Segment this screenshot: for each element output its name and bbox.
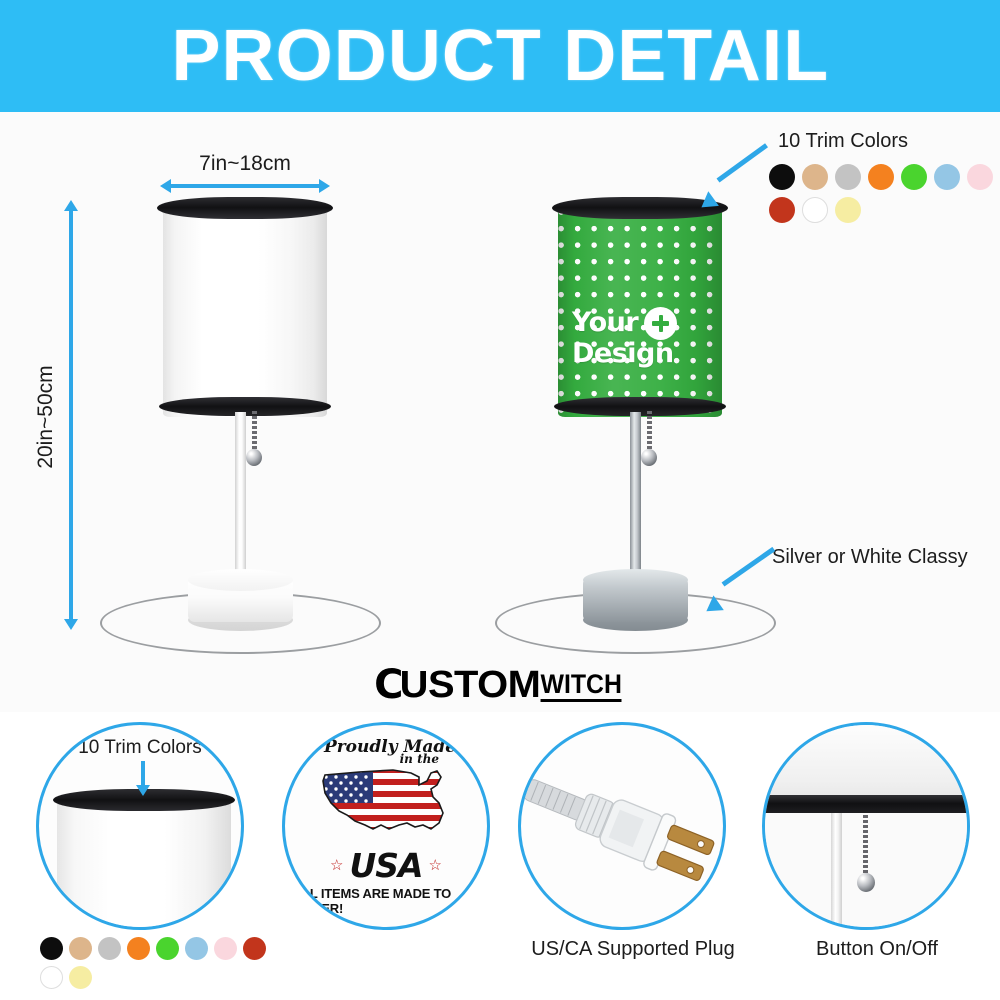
feature-plug-caption: US/CA Supported Plug	[518, 938, 748, 961]
feature-made-in-usa: Proudly Made in the	[282, 722, 512, 930]
base-finish-label: Silver or White Classy	[772, 546, 968, 569]
pull-chain-ball-icon	[641, 449, 657, 466]
logo-witch-text: WITCH	[541, 671, 622, 702]
pull-chain-ball-icon	[246, 449, 262, 466]
lampshade-white	[95, 197, 395, 427]
usa-badge: Proudly Made in the	[293, 733, 479, 919]
design-line-2: Design	[572, 340, 722, 368]
lamp-base-top	[188, 569, 293, 591]
lamp-pole-closeup	[831, 813, 842, 930]
height-dimension-label: 20in~50cm	[34, 202, 58, 632]
vertical-double-arrow-icon	[64, 200, 78, 630]
trim-swatch-orange[interactable]	[127, 937, 150, 960]
lampshade-top-trim	[157, 197, 333, 219]
star-icon: ☆	[429, 856, 442, 874]
logo-custom-text: USTOM	[400, 666, 541, 704]
usa-badge-bottom: ALL ITEMS ARE MADE TO ORDER!	[293, 886, 479, 916]
trim-swatch-gray[interactable]	[98, 937, 121, 960]
pull-chain-icon	[252, 411, 257, 453]
trim-color-swatches-bottom	[40, 937, 280, 989]
trim-swatch-red[interactable]	[769, 197, 795, 223]
trim-swatch-tan[interactable]	[69, 937, 92, 960]
lampshade-green: Your Design	[490, 197, 790, 427]
trim-swatch-gray[interactable]	[835, 164, 861, 190]
width-dimension-label: 7in~18cm	[160, 152, 330, 176]
feature-circle: 10 Trim Colors	[36, 722, 244, 930]
usa-badge-line1: Proudly Made	[324, 737, 456, 757]
trim-swatch-black[interactable]	[40, 937, 63, 960]
trim-colors-title: 10 Trim Colors	[778, 130, 908, 153]
your-design-placeholder: Your Design	[558, 209, 722, 417]
trim-swatch-yellow[interactable]	[69, 966, 92, 989]
design-text-your: Your	[572, 309, 638, 337]
trim-swatch-black[interactable]	[769, 164, 795, 190]
trim-swatch-pink[interactable]	[214, 937, 237, 960]
trim-swatch-green[interactable]	[901, 164, 927, 190]
lamp-pole	[630, 412, 641, 587]
lamp-base-top	[583, 569, 688, 591]
pull-chain-ball-icon	[857, 873, 875, 892]
trim-swatch-white[interactable]	[40, 966, 63, 989]
feature-button-caption: Button On/Off	[762, 938, 992, 961]
lamp-white	[95, 197, 395, 427]
power-plug-icon	[521, 725, 723, 927]
design-text-design: Design	[572, 340, 674, 368]
feature-plug: US/CA Supported Plug	[518, 722, 748, 961]
trim-swatch-light-blue[interactable]	[185, 937, 208, 960]
trim-swatch-green[interactable]	[156, 937, 179, 960]
feature-circle: Proudly Made in the	[282, 722, 490, 930]
feature-trim-label: 10 Trim Colors	[39, 737, 241, 759]
pull-chain-icon	[863, 815, 868, 877]
plus-icon	[644, 307, 677, 340]
lampshade-surface	[163, 209, 327, 417]
feature-strip: 10 Trim Colors Proudly Made in the	[0, 712, 1000, 1000]
trim-swatch-tan[interactable]	[802, 164, 828, 190]
trim-swatch-light-blue[interactable]	[934, 164, 960, 190]
lampshade-trim-closeup	[762, 795, 970, 813]
feature-circle	[762, 722, 970, 930]
lamp-green-custom: Your Design	[490, 197, 790, 427]
lampshade-closeup	[762, 725, 970, 799]
feature-button-onoff: Button On/Off	[762, 722, 992, 961]
design-line-1: Your	[572, 307, 722, 340]
header-banner: PRODUCT DETAIL	[0, 0, 1000, 112]
usa-map-flag-icon	[315, 767, 457, 848]
trim-pointer-arrow-icon	[700, 160, 770, 210]
horizontal-double-arrow-icon	[160, 179, 330, 193]
trim-swatch-yellow[interactable]	[835, 197, 861, 223]
product-showcase: 7in~18cm 20in~50cm	[0, 112, 1000, 712]
lamp-pole	[235, 412, 246, 587]
pull-chain-icon	[647, 411, 652, 453]
width-dimension: 7in~18cm	[160, 152, 330, 193]
trim-swatch-white[interactable]	[802, 197, 828, 223]
trim-swatch-red[interactable]	[243, 937, 266, 960]
star-icon: ☆	[330, 856, 343, 874]
trim-swatch-pink[interactable]	[967, 164, 993, 190]
page-title: PRODUCT DETAIL	[171, 15, 829, 97]
lampshade-closeup	[57, 801, 231, 930]
feature-trim-colors: 10 Trim Colors	[36, 722, 266, 930]
usa-badge-word-row: ☆ USA ☆	[330, 846, 442, 885]
usa-badge-word: USA	[349, 846, 422, 885]
feature-circle	[518, 722, 726, 930]
trim-swatch-orange[interactable]	[868, 164, 894, 190]
trim-color-swatches	[769, 164, 1000, 223]
base-pointer-arrow-icon	[705, 572, 775, 622]
brand-logo: C USTOM WITCH	[0, 664, 1000, 704]
down-arrow-icon	[141, 761, 145, 787]
